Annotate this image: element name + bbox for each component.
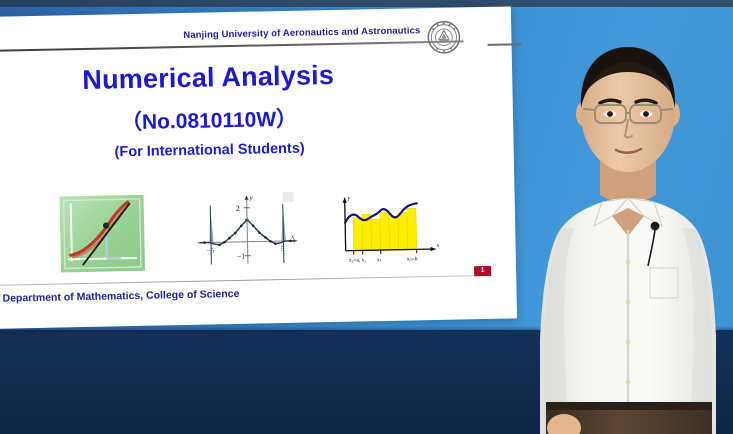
svg-text:x: x (436, 243, 440, 249)
svg-text:xₙ=b: xₙ=b (407, 256, 418, 262)
svg-text:xₖ: xₖ (377, 257, 382, 263)
figure-row: 2 −1 −5 5 x y (12, 186, 454, 285)
course-code: （No.0810110W） (0, 99, 465, 139)
department-footer: Department of Mathematics, College of Sc… (2, 288, 239, 305)
svg-text:−5: −5 (207, 246, 215, 254)
svg-text:x₀=a, x₁: x₀=a, x₁ (349, 257, 367, 263)
header-rule (0, 40, 464, 51)
newton-tangent-method-figure (57, 192, 147, 281)
runge-interpolation-figure: 2 −1 −5 5 x y (190, 189, 304, 276)
svg-text:5: 5 (281, 245, 285, 253)
page-title: Numerical Analysis (0, 57, 464, 98)
university-name: Nanjing University of Aeronautics and As… (183, 25, 420, 41)
svg-text:2: 2 (236, 204, 240, 213)
numerical-integration-figure: x₀=a, x₁ xₖ xₙ=b x y (330, 186, 444, 273)
presenter-video (524, 30, 733, 434)
page-number-badge: 1 (474, 266, 491, 276)
lecture-recording-frame: Nanjing University of Aeronautics and As… (0, 0, 733, 434)
svg-text:−1: −1 (237, 252, 246, 261)
audience-subtitle: (For International Students) (0, 137, 466, 163)
projected-slide: Nanjing University of Aeronautics and As… (0, 6, 517, 329)
svg-text:y: y (347, 196, 351, 202)
university-seal-logo (427, 20, 461, 54)
